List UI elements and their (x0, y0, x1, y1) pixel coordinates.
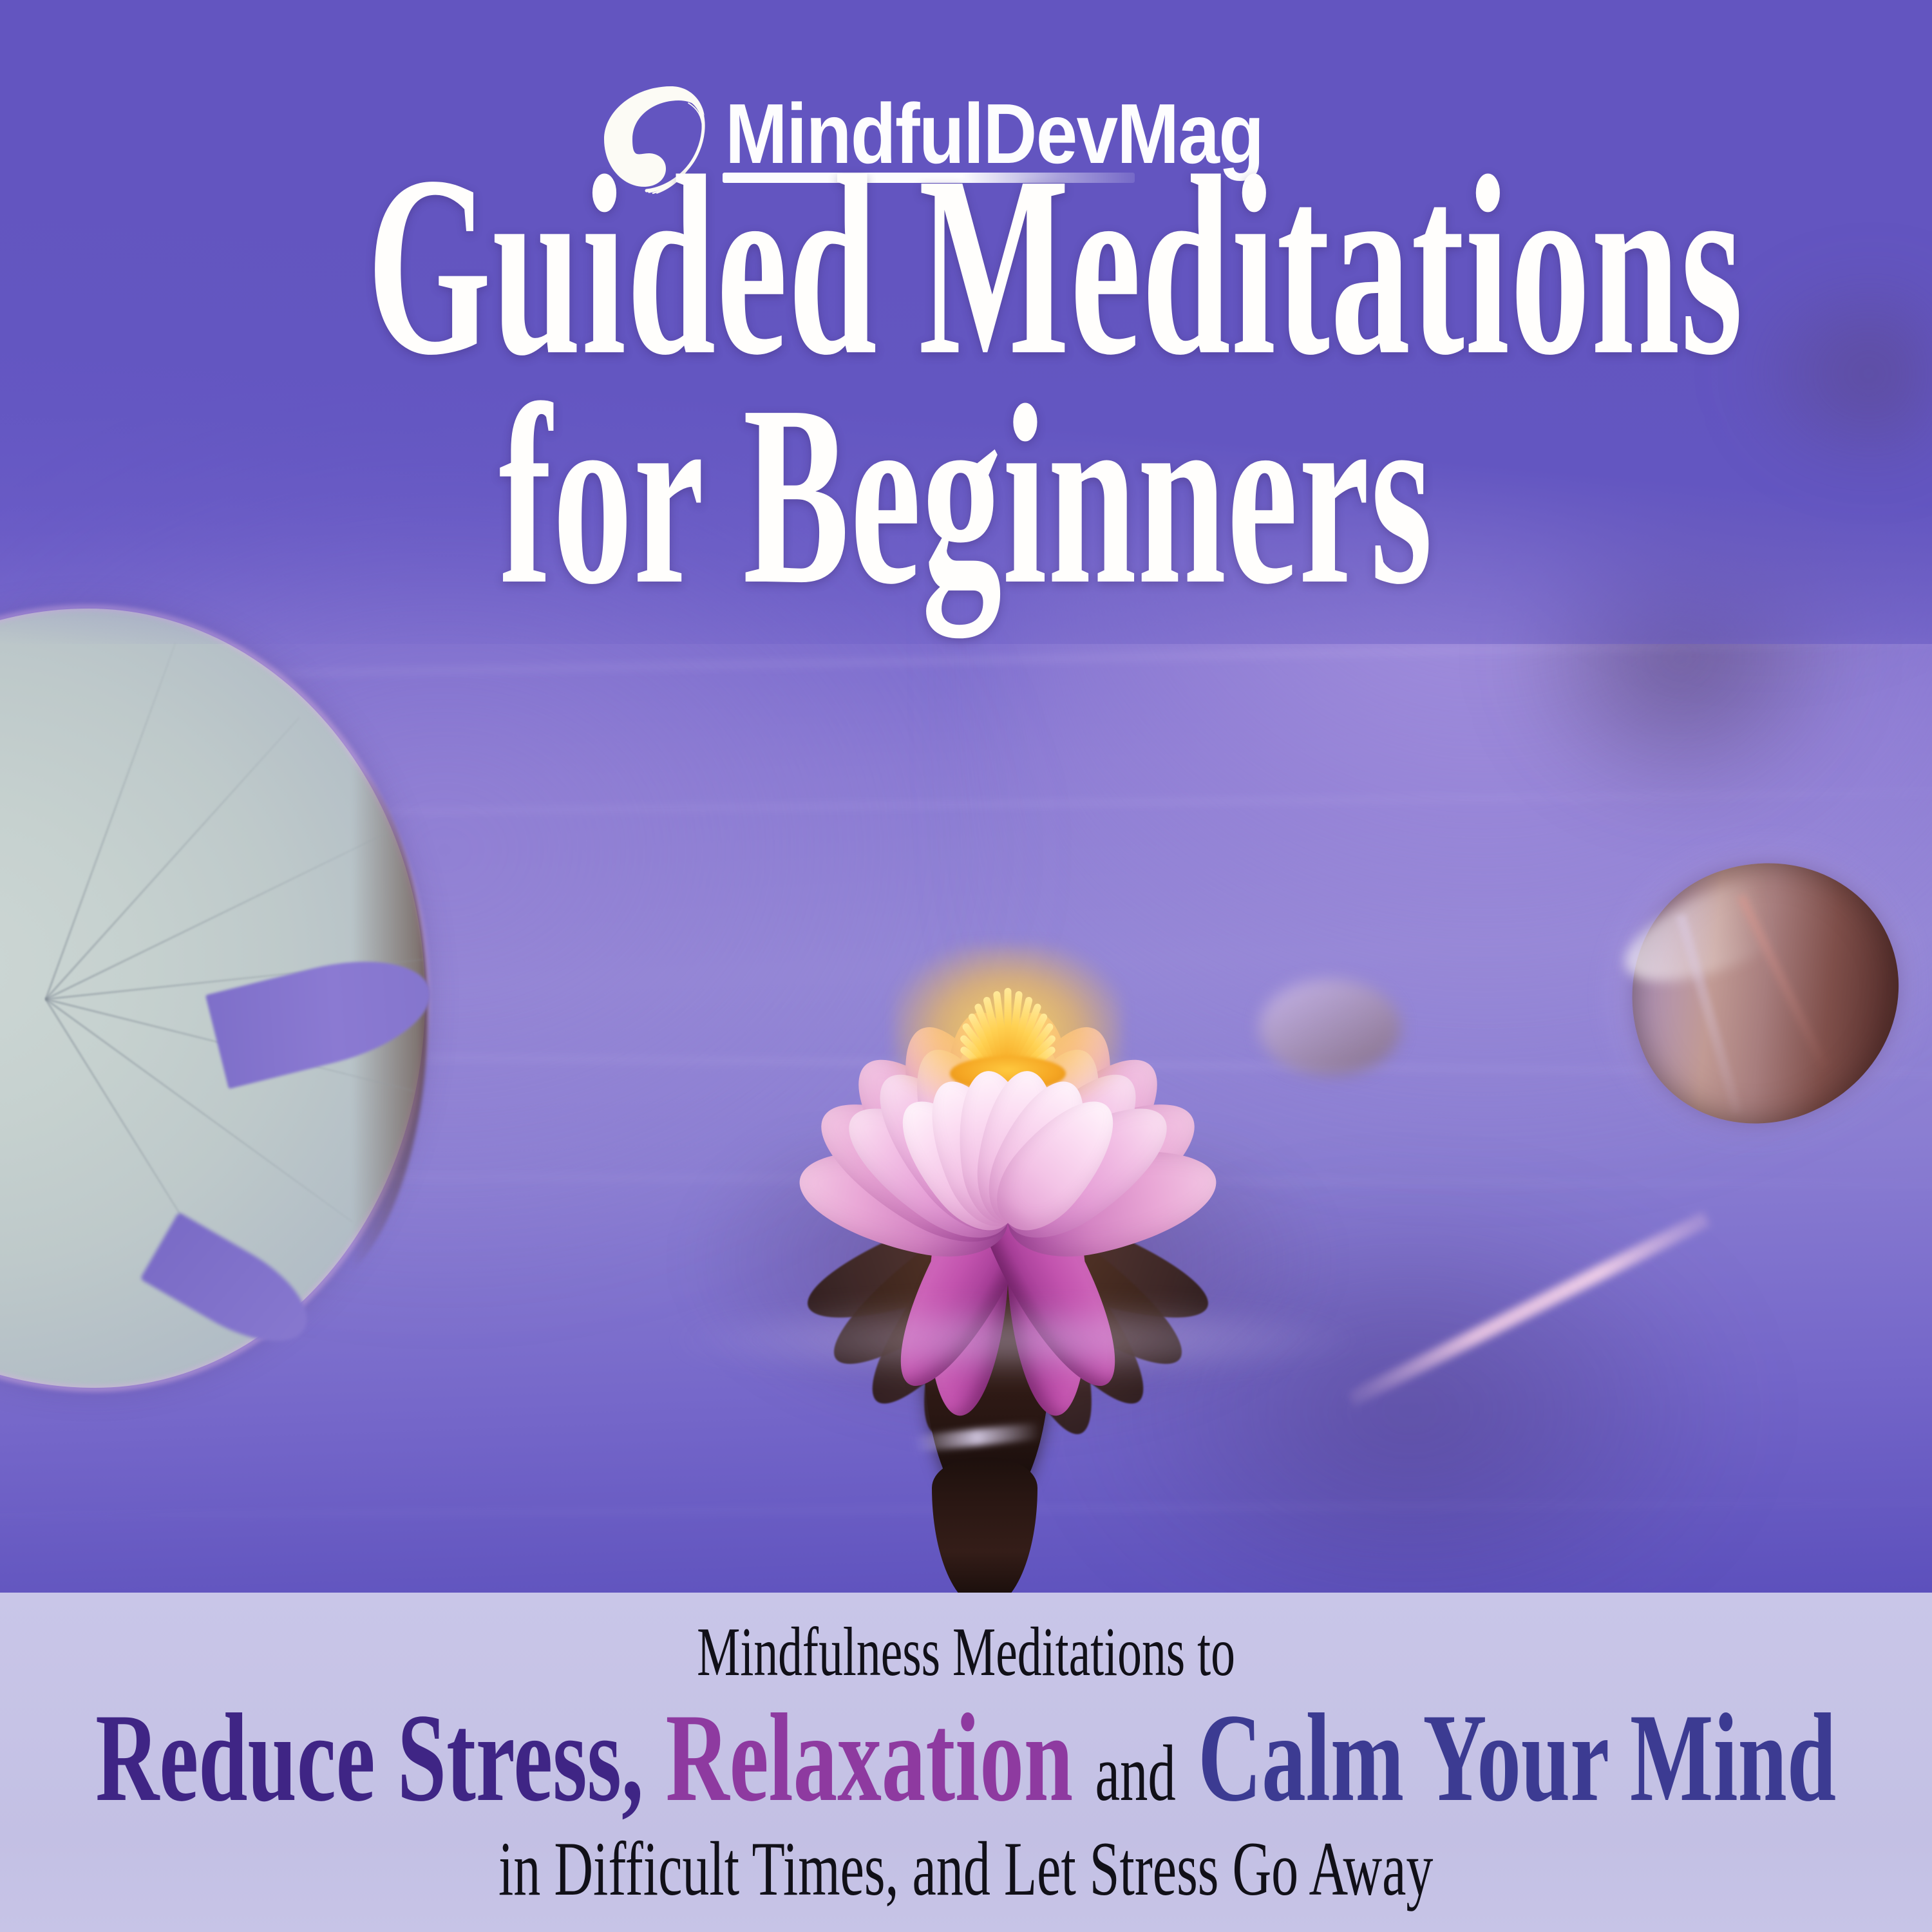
water-contact-highlight (676, 1301, 1359, 1378)
audiobook-cover: MindfulDevMag Guided Meditations for Beg… (0, 0, 1932, 1932)
subtitle-band: Mindfulness Meditations to Reduce Stress… (0, 1593, 1932, 1932)
page-title: Guided Meditations for Beginners (0, 142, 1932, 619)
lily-pad (0, 609, 425, 1388)
lotus-flower (718, 802, 1298, 1356)
title-line-2: for Beginners (367, 372, 1565, 619)
subtitle-bottom-line: in Difficult Times, and Let Stress Go Aw… (498, 1830, 1433, 1908)
subtitle-headline: Reduce Stress, Relaxation and Calm Your … (96, 1695, 1837, 1821)
subtitle-segment-calm-your-mind: Calm Your Mind (1198, 1688, 1836, 1828)
lotus-stamen-core (911, 962, 1104, 1084)
subtitle-conjunction: and (1095, 1729, 1176, 1817)
subtitle-segment-relaxation: Relaxation (666, 1688, 1074, 1828)
subtitle-segment-reduce-stress: Reduce Stress, (96, 1688, 644, 1828)
subtitle-top-line: Mindfulness Meditations to (697, 1618, 1235, 1687)
